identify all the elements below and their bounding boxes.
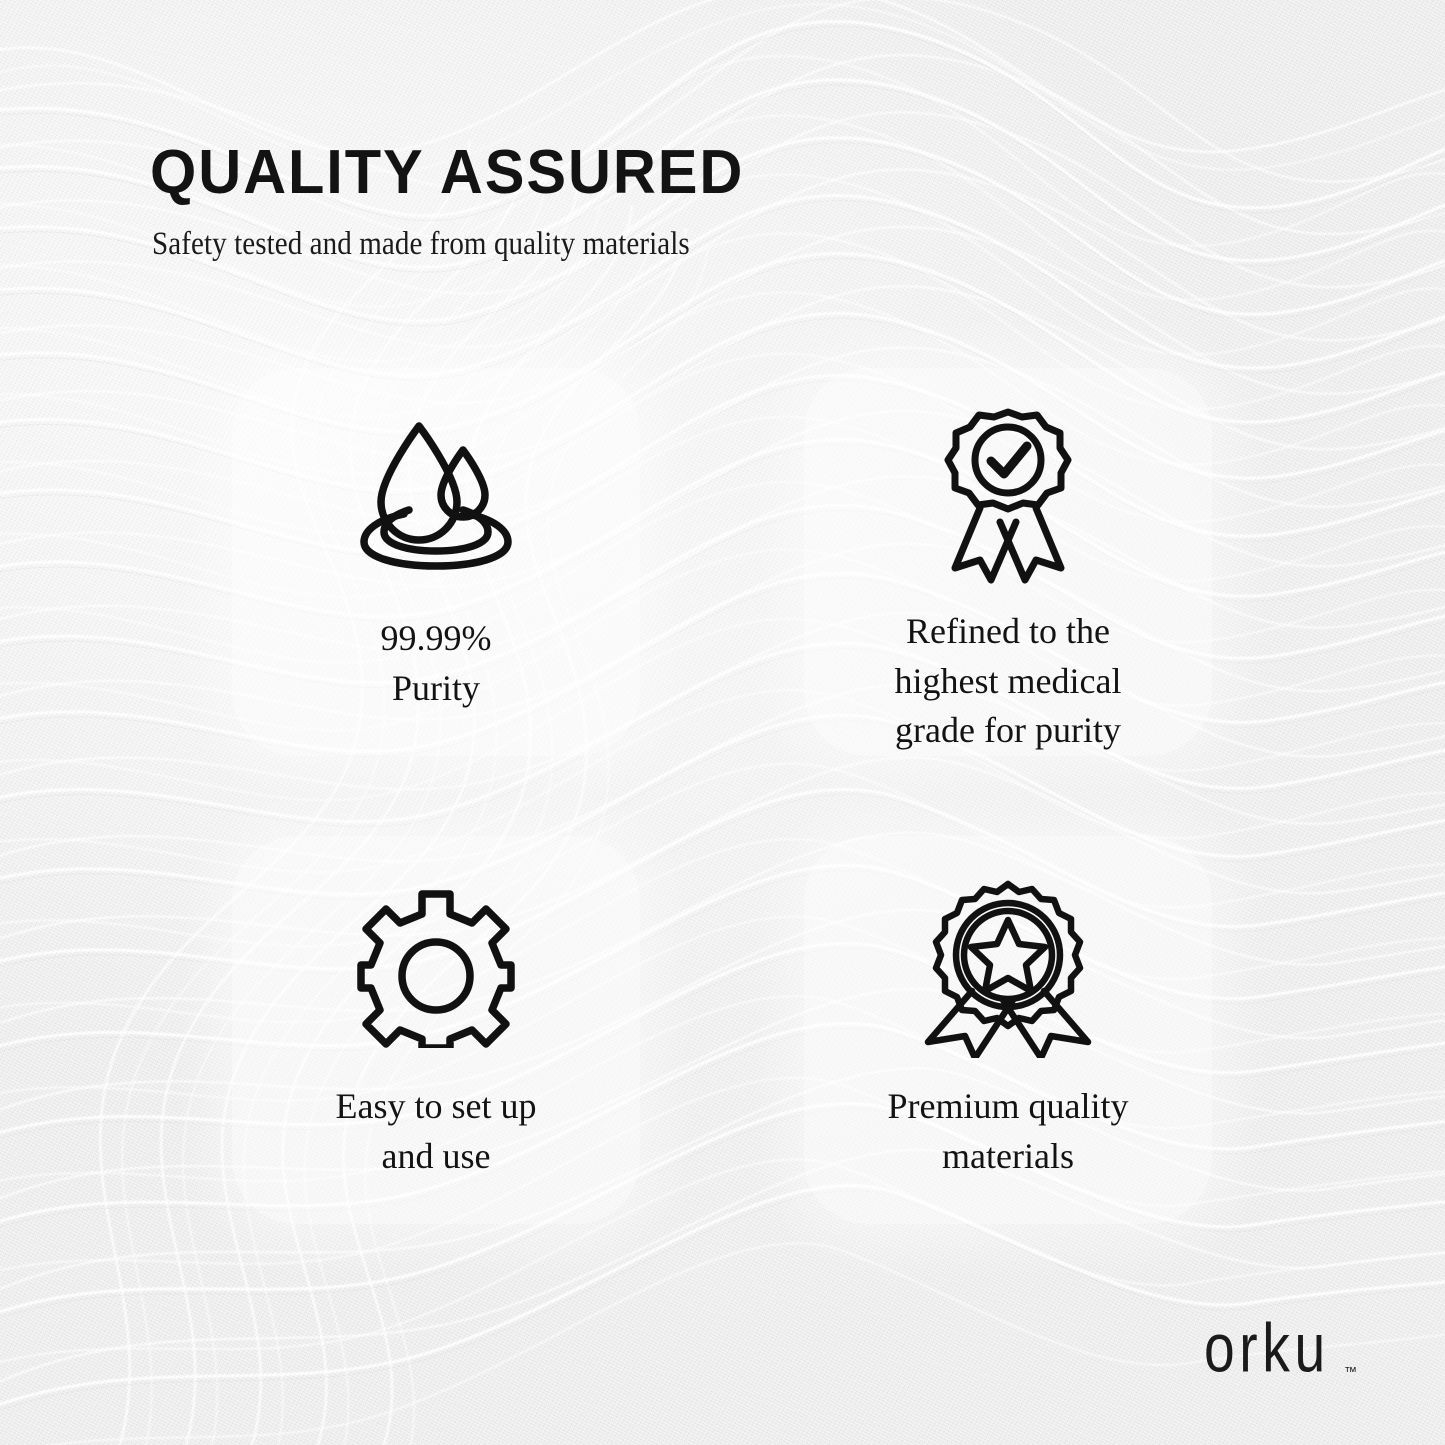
feature-card-label: Easy to set up and use	[324, 1082, 549, 1181]
header: QUALITY ASSURED Safety tested and made f…	[150, 142, 1250, 263]
feature-card-premium-materials: Premium quality materials	[804, 836, 1212, 1224]
water-drop-ripple-icon	[347, 400, 525, 600]
brand-logo: orku ™	[1204, 1323, 1357, 1383]
feature-card-easy-setup: Easy to set up and use	[232, 836, 640, 1224]
feature-card-purity: 99.99% Purity	[232, 368, 640, 756]
gear-icon	[356, 868, 516, 1068]
poster-canvas: QUALITY ASSURED Safety tested and made f…	[0, 0, 1445, 1445]
feature-card-label: Premium quality materials	[876, 1082, 1141, 1181]
page-subtitle: Safety tested and made from quality mate…	[152, 226, 1118, 263]
page-title: QUALITY ASSURED	[150, 142, 1206, 204]
check-badge-ribbon-icon	[933, 400, 1083, 593]
feature-card-label: 99.99% Purity	[369, 614, 504, 713]
brand-wordmark: orku	[1204, 1315, 1330, 1383]
trademark-symbol: ™	[1344, 1364, 1357, 1379]
feature-card-medical-grade: Refined to the highest medical grade for…	[804, 368, 1212, 756]
feature-card-label: Refined to the highest medical grade for…	[883, 607, 1134, 756]
feature-card-grid: 99.99% Purity	[232, 368, 1212, 1228]
star-medal-ribbon-icon	[920, 868, 1096, 1068]
